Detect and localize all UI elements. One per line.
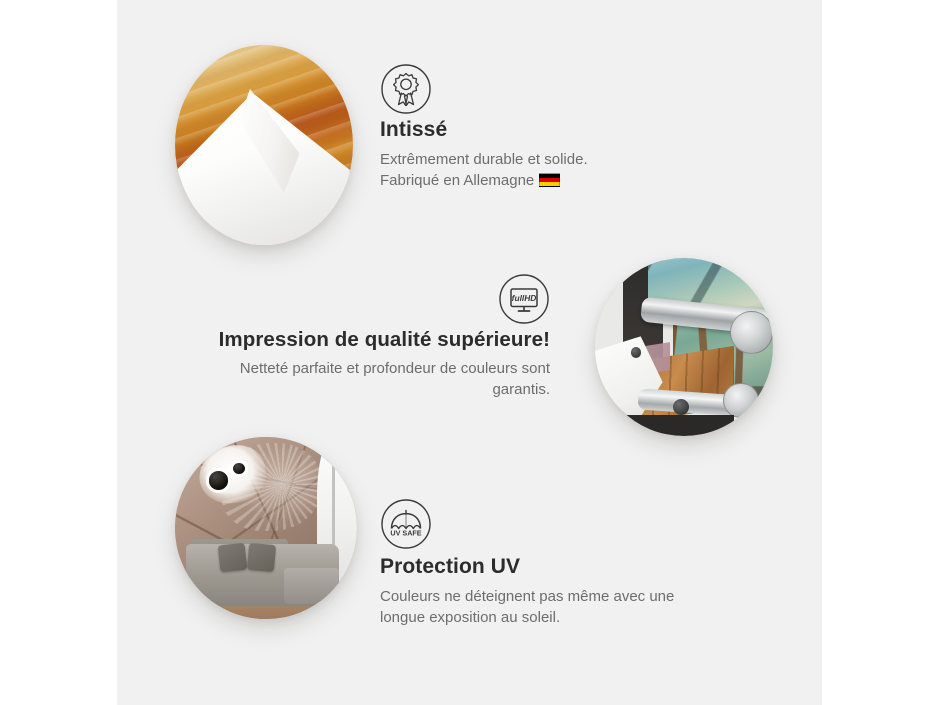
feature-block-uv: Protection UV Couleurs ne déteignent pas…	[380, 555, 720, 628]
printer-dark-base	[627, 415, 734, 436]
feature-desc-line2: Fabriqué en Allemagne	[380, 172, 534, 189]
feature-title-uv: Protection UV	[380, 555, 720, 579]
sofa-cushion-right	[247, 543, 277, 573]
fullhd-monitor-icon: fullHD	[498, 273, 550, 325]
printer-knob-lower	[673, 399, 689, 415]
uv-safe-icon-label: UV SAFE	[390, 529, 421, 538]
feature-title-quality: Impression de qualité supérieure!	[205, 328, 550, 352]
feature-block-quality: Impression de qualité supérieure! Nettet…	[205, 328, 550, 400]
feature-desc-quality: Netteté parfaite et profondeur de couleu…	[205, 359, 550, 400]
fullhd-icon-label: fullHD	[512, 293, 537, 303]
printer-disc-upper	[730, 311, 773, 354]
award-rosette-icon	[380, 63, 432, 115]
feature-desc-line2: garantis.	[205, 380, 550, 401]
feature-desc-intisse: Extrêmement durable et solide. Fabriqué …	[380, 150, 710, 191]
peeled-wallpaper-photo	[175, 45, 353, 245]
feature-desc-line1: Netteté parfaite et profondeur de couleu…	[205, 359, 550, 380]
product-feature-infographic: Intissé Extrêmement durable et solide. F…	[117, 0, 822, 705]
feature-desc-line2: longue exposition au soleil.	[380, 608, 720, 629]
mural-owl-eye-right	[233, 463, 245, 474]
feature-desc-uv: Couleurs ne déteignent pas même avec une…	[380, 587, 720, 628]
mural-owl-eye-left	[209, 471, 229, 489]
feature-title-intisse: Intissé	[380, 118, 710, 142]
uv-safe-umbrella-icon: UV SAFE	[380, 498, 432, 550]
printer-disc-lower	[723, 383, 759, 419]
feature-desc-line1: Extrêmement durable et solide.	[380, 150, 710, 171]
de-flag-icon	[539, 173, 560, 187]
feature-block-intisse: Intissé Extrêmement durable et solide. F…	[380, 118, 710, 191]
printing-machine-photo	[595, 258, 773, 436]
sofa-cushion-left	[217, 543, 247, 573]
sofa-chaise-section	[284, 568, 339, 604]
printer-knob-upper	[631, 347, 642, 358]
feature-desc-line2-wrap: Fabriqué en Allemagne	[380, 171, 710, 192]
feature-desc-line1: Couleurs ne déteignent pas même avec une	[380, 587, 720, 608]
living-room-mural-photo	[175, 437, 357, 619]
